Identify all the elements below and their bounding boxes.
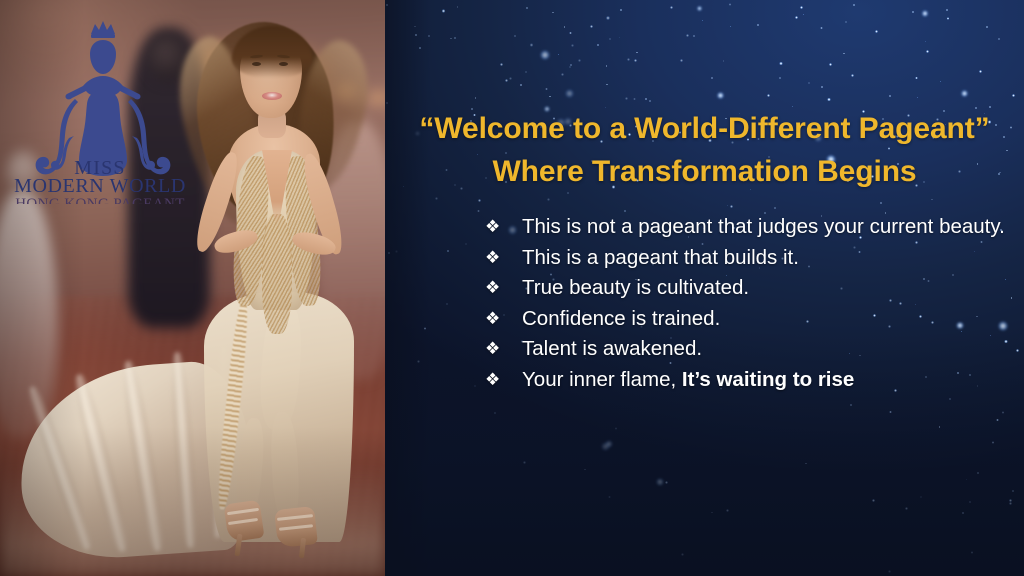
shoe-heel-front (299, 538, 306, 558)
star (620, 9, 622, 11)
star (1016, 349, 1019, 352)
star (792, 106, 793, 107)
star (926, 50, 929, 53)
bullet-diamond-icon: ❖ (485, 304, 522, 335)
star (966, 479, 967, 480)
star (520, 84, 522, 86)
slide-headline: “Welcome to a World-Different Pageant” W… (385, 108, 1024, 193)
bullet-diamond-icon: ❖ (485, 212, 522, 243)
star (549, 96, 551, 98)
star (415, 34, 417, 36)
star (606, 16, 609, 19)
bullet-text: True beauty is cultivated. (522, 273, 1005, 304)
star (609, 38, 610, 39)
star (853, 4, 855, 6)
star (561, 73, 564, 76)
star (465, 243, 467, 245)
star (388, 252, 389, 253)
star (711, 512, 713, 514)
star (693, 35, 695, 37)
star (843, 53, 845, 55)
star (569, 66, 570, 67)
star (569, 32, 571, 34)
star (395, 250, 398, 253)
star (979, 70, 982, 73)
star (584, 469, 586, 471)
star (767, 94, 770, 97)
star (962, 512, 964, 514)
star (931, 199, 933, 201)
star (565, 89, 574, 98)
star (820, 27, 822, 29)
star (805, 463, 806, 464)
star (597, 44, 598, 45)
bullet-item: ❖True beauty is cultivated. (485, 273, 1005, 304)
star (450, 38, 452, 40)
star (525, 71, 527, 73)
star (435, 197, 438, 200)
star (977, 472, 979, 474)
headline-line-2: Where Transformation Begins (385, 151, 1024, 194)
star (681, 553, 684, 556)
bullet-diamond-icon: ❖ (485, 365, 522, 396)
star (1011, 297, 1013, 299)
headline-line-1: “Welcome to a World-Different Pageant” (385, 108, 1024, 151)
star (494, 412, 496, 414)
pageant-logo: MISS MODERN WORLD HONG KONG PAGEANT (12, 14, 188, 204)
star (845, 21, 847, 23)
star (608, 496, 611, 499)
star (961, 90, 968, 97)
logo-woman-silhouette-icon (36, 21, 171, 176)
star (558, 54, 559, 55)
star (821, 86, 823, 88)
star (545, 88, 547, 90)
star (1012, 490, 1014, 492)
star (996, 419, 999, 422)
star (615, 427, 618, 430)
star (446, 303, 448, 305)
star (636, 52, 637, 53)
star (564, 26, 566, 28)
bullet-item: ❖Confidence is trained. (485, 304, 1005, 335)
star (808, 82, 810, 84)
star (540, 50, 550, 60)
star (779, 62, 782, 65)
star (1012, 94, 1015, 97)
star (1005, 279, 1006, 280)
star (803, 14, 804, 15)
star (757, 24, 759, 26)
star (590, 25, 593, 28)
bullet-text: This is a pageant that builds it. (522, 243, 1005, 274)
star (578, 59, 581, 62)
star (552, 12, 553, 13)
star (530, 43, 533, 46)
logo-text-modern-world: MODERN WORLD (14, 175, 186, 197)
star (872, 499, 875, 502)
star (417, 360, 419, 362)
star (779, 77, 781, 79)
star (912, 11, 914, 13)
star (969, 501, 971, 503)
star (922, 10, 928, 16)
model-mouth (262, 92, 282, 100)
star (665, 481, 668, 484)
star (625, 97, 628, 100)
star (829, 63, 831, 65)
star (875, 30, 878, 33)
star (571, 44, 574, 47)
star (570, 64, 572, 66)
bullet-text: Confidence is trained. (522, 304, 1005, 335)
bullet-item: ❖Talent is awakened. (485, 334, 1005, 365)
star (850, 404, 851, 405)
presentation-slide: MISS MODERN WORLD HONG KONG PAGEANT “Wel… (0, 0, 1024, 576)
star (619, 37, 620, 38)
star (649, 100, 651, 102)
star (947, 17, 950, 20)
star (386, 4, 388, 6)
bullet-item: ❖Your inner flame, It’s waiting to rise (485, 365, 1005, 396)
star (915, 77, 917, 79)
bullet-diamond-icon: ❖ (485, 273, 522, 304)
star (992, 441, 994, 443)
star (526, 7, 528, 9)
star (686, 34, 689, 37)
star (680, 59, 683, 62)
bullet-list: ❖This is not a pageant that judges your … (485, 212, 1005, 395)
star (601, 442, 609, 450)
star (606, 65, 608, 67)
model-eye-left (252, 62, 261, 66)
star (477, 210, 480, 213)
star (523, 461, 526, 464)
star (723, 60, 724, 61)
star (1009, 499, 1012, 502)
star (414, 26, 416, 28)
star (514, 35, 516, 37)
star (800, 6, 803, 9)
star (454, 37, 456, 39)
star (730, 205, 733, 208)
star (606, 84, 607, 85)
star (774, 207, 776, 209)
star (500, 63, 503, 66)
logo-text-hong-kong-pageant: HONG KONG PAGEANT (15, 196, 185, 204)
star (447, 250, 449, 252)
star (697, 6, 702, 11)
star (986, 26, 988, 28)
star (711, 77, 713, 79)
star (645, 98, 647, 100)
model-photo: MISS MODERN WORLD HONG KONG PAGEANT (0, 0, 385, 576)
star (949, 398, 950, 399)
star (428, 35, 430, 37)
star (475, 97, 476, 98)
star (633, 98, 635, 100)
star (730, 26, 731, 27)
bullet-emphasis: It’s waiting to rise (682, 368, 854, 391)
star (419, 47, 421, 49)
star (478, 199, 480, 201)
star (670, 6, 673, 9)
star (634, 59, 637, 62)
bullet-diamond-icon: ❖ (485, 334, 522, 365)
content-panel: “Welcome to a World-Different Pageant” W… (385, 0, 1024, 576)
star (726, 509, 729, 512)
bullet-text: Your inner flame, It’s waiting to rise (522, 365, 1005, 396)
star (442, 9, 445, 12)
star (971, 551, 974, 554)
bullet-text: This is not a pageant that judges your c… (522, 212, 1005, 243)
star (795, 16, 798, 19)
star (474, 385, 476, 387)
star (627, 58, 630, 61)
star (509, 77, 511, 79)
star (424, 327, 427, 330)
star (889, 411, 892, 414)
star (939, 426, 941, 428)
star (605, 440, 614, 449)
star (727, 205, 728, 206)
star (917, 97, 918, 98)
model-hair-front (232, 26, 312, 78)
bullet-diamond-icon: ❖ (485, 243, 522, 274)
star (505, 79, 508, 82)
star (547, 198, 550, 201)
bullet-item: ❖This is a pageant that builds it. (485, 243, 1005, 274)
star (386, 102, 388, 104)
bullet-text: Talent is awakened. (522, 334, 1005, 365)
star (920, 496, 922, 498)
star (880, 202, 882, 204)
model-eye-right (279, 62, 288, 66)
gown-beadwork-center (262, 214, 292, 334)
star (889, 95, 891, 97)
star (1002, 411, 1005, 414)
star (457, 6, 458, 7)
star (888, 570, 891, 573)
star (925, 41, 926, 42)
star (998, 38, 1000, 40)
bullet-item: ❖This is not a pageant that judges your … (485, 212, 1005, 243)
star (702, 20, 703, 21)
star (656, 478, 664, 486)
star (940, 81, 941, 82)
star (905, 507, 908, 510)
star (1009, 502, 1012, 505)
star (717, 92, 724, 99)
star (946, 9, 948, 11)
panel-left-fade (385, 0, 431, 576)
star (729, 3, 731, 5)
star (851, 74, 853, 76)
star (827, 98, 830, 101)
